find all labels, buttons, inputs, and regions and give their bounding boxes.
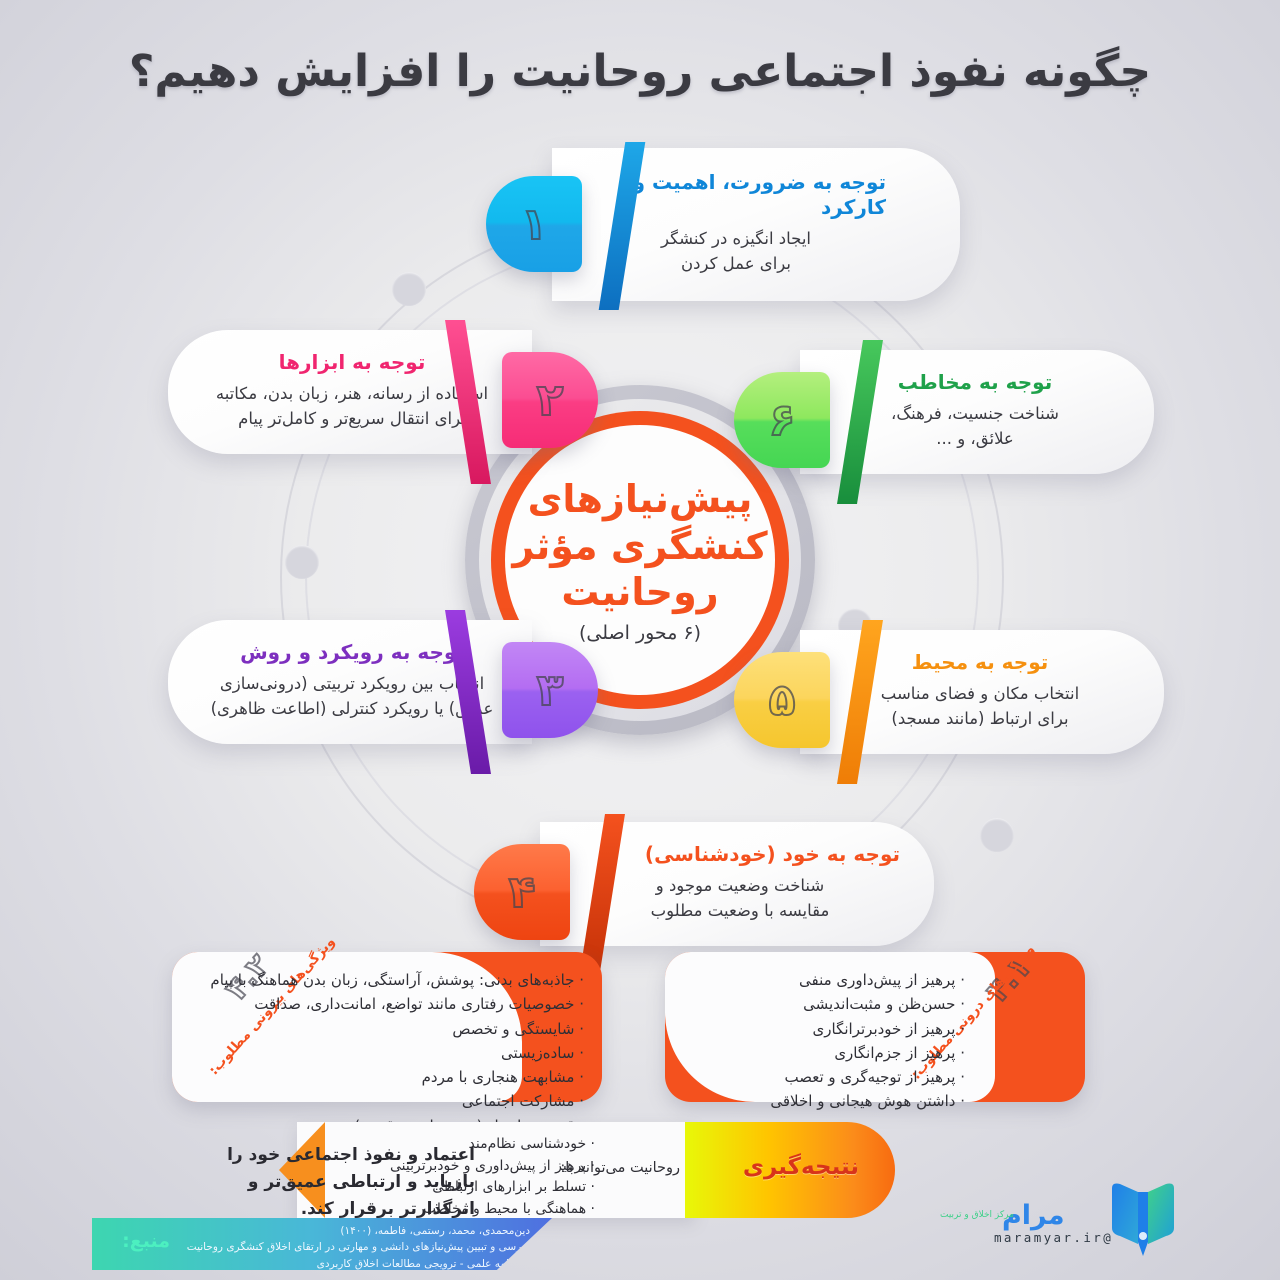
page-title: چگونه نفوذ اجتماعی روحانیت را افزایش دهی… xyxy=(0,46,1280,97)
infographic-canvas: چگونه نفوذ اجتماعی روحانیت را افزایش دهی… xyxy=(0,0,1280,1280)
pod-1-number-badge: ۱ xyxy=(486,176,582,272)
pod-2[interactable]: توجه به ابزارها استفاده از رسانه، هنر، ز… xyxy=(168,330,532,454)
conclusion-cap-label: نتیجه‌گیری xyxy=(743,1154,859,1180)
logo-tagline: مرکز اخلاق و تربیت xyxy=(940,1210,1014,1220)
subpanel-4-2[interactable]: ۴.۲ ویژگی‌های بیرونی مطلوب: جاذبه‌های بد… xyxy=(172,952,602,1102)
subpanel-4-2-list: جاذبه‌های بدنی: پوشش، آراستگی، زبان بدن … xyxy=(210,968,584,1138)
pod-4-body: شناخت وضعیت موجود و مقایسه با وضعیت مطلو… xyxy=(580,874,900,924)
pod-6-number: ۶ xyxy=(769,395,796,446)
list-item: مشارکت اجتماعی xyxy=(210,1089,584,1113)
center-title: پیش‌نیازهای کنشگری مؤثر روحانیت xyxy=(505,476,775,615)
brand-logo[interactable]: مرام مرکز اخلاق و تربیت @maramyar.ir xyxy=(980,1178,1210,1264)
subpanel-4-1-list: پرهیز از پیش‌داوری منفی حسن‌ظن و مثبت‌ان… xyxy=(770,968,965,1114)
pod-5-number: ۵ xyxy=(769,675,796,726)
list-item: حسن‌ظن و مثبت‌اندیشی xyxy=(770,992,965,1016)
conclusion-outcome: اعتماد و نفوذ اجتماعی خود را بازیابد و ا… xyxy=(175,1142,475,1224)
center-subtitle: (۶ محور اصلی) xyxy=(579,622,701,644)
pod-5-body: انتخاب مکان و فضای مناسب برای ارتباط (ما… xyxy=(830,682,1130,732)
pod-5-number-badge: ۵ xyxy=(734,652,830,748)
pod-3[interactable]: توجه به رویکرد و روش انتخاب بین رویکرد ت… xyxy=(168,620,532,744)
source-line: دین‌محمدی، محمد، رستمی، فاطمه، (۱۴۰۰) xyxy=(164,1223,530,1239)
pod-6-body: شناخت جنسیت، فرهنگ، علائق، و ... xyxy=(830,402,1120,452)
pod-1[interactable]: توجه به ضرورت، اهمیت و کارکرد ایجاد انگی… xyxy=(552,148,960,301)
list-item: پرهیز از پیش‌داوری منفی xyxy=(770,968,965,992)
orbit-node xyxy=(980,818,1014,852)
source-label: منبع: xyxy=(122,1230,170,1252)
pod-3-number-badge: ۳ xyxy=(502,642,598,738)
pod-6[interactable]: توجه به مخاطب شناخت جنسیت، فرهنگ، علائق،… xyxy=(800,350,1154,474)
pod-4-heading: توجه به خود (خودشناسی) xyxy=(580,842,900,867)
pod-2-number-badge: ۲ xyxy=(502,352,598,448)
orbit-node xyxy=(285,545,319,579)
list-item: ساده‌زیستی xyxy=(210,1041,584,1065)
pod-4[interactable]: توجه به خود (خودشناسی) شناخت وضعیت موجود… xyxy=(540,822,934,946)
pod-4-number: ۴ xyxy=(509,867,536,918)
list-item: خصوصیات رفتاری مانند تواضع، امانت‌داری، … xyxy=(210,992,584,1016)
source-line: فصلنامه علمی - ترویجی مطالعات اخلاق کارب… xyxy=(164,1256,530,1272)
list-item: پرهیز از خودبرترانگاری xyxy=(770,1017,965,1041)
list-item: پرهیز از جزم‌انگاری xyxy=(770,1041,965,1065)
pod-5[interactable]: توجه به محیط انتخاب مکان و فضای مناسب بر… xyxy=(800,630,1164,754)
pod-6-number-badge: ۶ xyxy=(734,372,830,468)
source-lines: دین‌محمدی، محمد، رستمی، فاطمه، (۱۴۰۰) بر… xyxy=(164,1223,530,1272)
list-item: پرهیز از توجیه‌گری و تعصب xyxy=(770,1065,965,1089)
orbit-node xyxy=(392,272,426,306)
pod-3-number: ۳ xyxy=(537,665,564,716)
pod-1-number: ۱ xyxy=(521,199,548,250)
list-item: شایستگی و تخصص xyxy=(210,1017,584,1041)
source-banner: منبع: دین‌محمدی، محمد، رستمی، فاطمه، (۱۴… xyxy=(92,1218,552,1270)
book-shield-icon xyxy=(1100,1178,1186,1264)
conclusion-bar: نتیجه‌گیری روحانیت می‌تواند با: خودشناسی… xyxy=(175,1122,895,1218)
source-line: بررسی و تبیین پیش‌نیازهای دانشی و مهارتی… xyxy=(164,1239,530,1255)
list-item: مشابهت هنجاری با مردم xyxy=(210,1065,584,1089)
pod-1-body: ایجاد انگیزه در کنشگر برای عمل کردن xyxy=(586,227,886,277)
list-item: جاذبه‌های بدنی: پوشش، آراستگی، زبان بدن … xyxy=(210,968,584,992)
pod-2-number: ۲ xyxy=(537,375,564,426)
list-item: داشتن هوش هیجانی و اخلاقی xyxy=(770,1089,965,1113)
pod-4-number-badge: ۴ xyxy=(474,844,570,940)
subpanel-4-1[interactable]: ۴.۱ ویژگی‌های درونی مطلوب: پرهیز از پیش‌… xyxy=(665,952,1085,1102)
logo-url[interactable]: @maramyar.ir xyxy=(994,1230,1113,1245)
